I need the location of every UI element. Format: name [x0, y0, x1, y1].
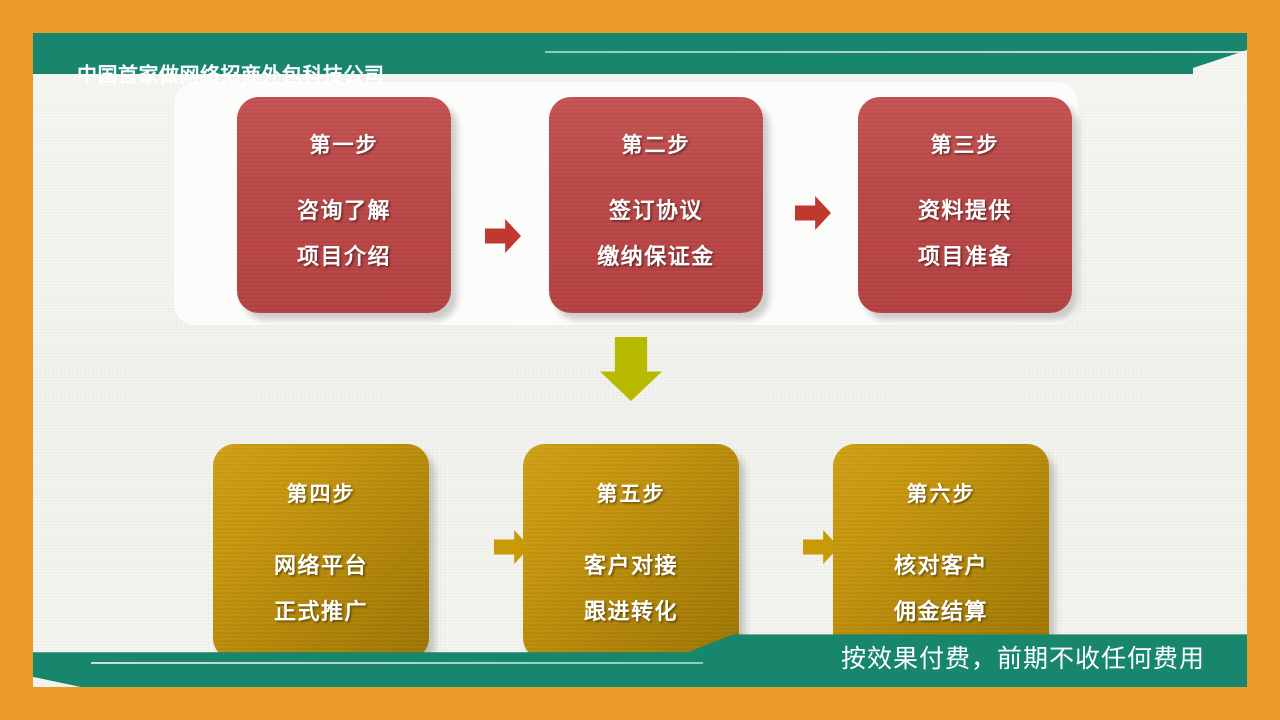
flow-card-step-4-line-1: 网络平台	[274, 548, 368, 580]
flow-card-step-2-line-2: 缴纳保证金	[597, 239, 715, 271]
flow-card-step-4-lines: 网络平台 正式推广	[274, 548, 368, 626]
flow-card-step-3-line-2: 项目准备	[918, 239, 1012, 271]
flow-card-step-2-line-1: 签订协议	[597, 193, 715, 225]
flow-card-step-1-title: 第一步	[310, 129, 379, 159]
flow-card-step-6-line-1: 核对客户	[894, 548, 988, 580]
flow-card-step-2[interactable]: 第二步 签订协议 缴纳保证金	[549, 97, 763, 313]
flow-card-step-5[interactable]: 第五步 客户对接 跟进转化	[523, 444, 739, 660]
flow-card-step-4-title: 第四步	[287, 478, 356, 508]
footer-hairline-decoration	[91, 662, 703, 664]
flow-card-step-3-lines: 资料提供 项目准备	[918, 193, 1012, 271]
flow-card-step-1[interactable]: 第一步 咨询了解 项目介绍	[237, 97, 451, 313]
page-title: 中国首家做网络招商外包科技公司	[77, 59, 385, 88]
flow-card-step-1-line-2: 项目介绍	[297, 239, 391, 271]
flow-card-step-5-title: 第五步	[597, 478, 666, 508]
flow-card-step-2-lines: 签订协议 缴纳保证金	[597, 193, 715, 271]
footer-tagline: 按效果付费，前期不收任何费用	[841, 639, 1205, 675]
arrow-down-icon-row-connector	[600, 337, 662, 401]
slide-canvas: 中国首家做网络招商外包科技公司 第一步 咨询了解 项目介绍 第二步 签订协议 缴…	[33, 33, 1247, 687]
flow-card-step-5-line-2: 跟进转化	[584, 594, 678, 626]
flow-card-step-1-lines: 咨询了解 项目介绍	[297, 193, 391, 271]
flow-card-step-5-lines: 客户对接 跟进转化	[584, 548, 678, 626]
flow-card-step-5-line-1: 客户对接	[584, 548, 678, 580]
header-hairline-decoration	[545, 51, 1245, 53]
flow-card-step-6-line-2: 佣金结算	[894, 594, 988, 626]
flow-card-step-3-title: 第三步	[931, 129, 1000, 159]
flow-card-step-1-line-1: 咨询了解	[297, 193, 391, 225]
flow-card-step-3-line-1: 资料提供	[918, 193, 1012, 225]
flow-card-step-4[interactable]: 第四步 网络平台 正式推广	[213, 444, 429, 660]
flow-card-step-4-line-2: 正式推广	[274, 594, 368, 626]
flow-card-step-3[interactable]: 第三步 资料提供 项目准备	[858, 97, 1072, 313]
flow-card-step-6[interactable]: 第六步 核对客户 佣金结算	[833, 444, 1049, 660]
flow-card-step-6-lines: 核对客户 佣金结算	[894, 548, 988, 626]
flow-card-step-2-title: 第二步	[622, 129, 691, 159]
slide-root: 中国首家做网络招商外包科技公司 第一步 咨询了解 项目介绍 第二步 签订协议 缴…	[0, 0, 1280, 720]
flow-card-step-6-title: 第六步	[907, 478, 976, 508]
